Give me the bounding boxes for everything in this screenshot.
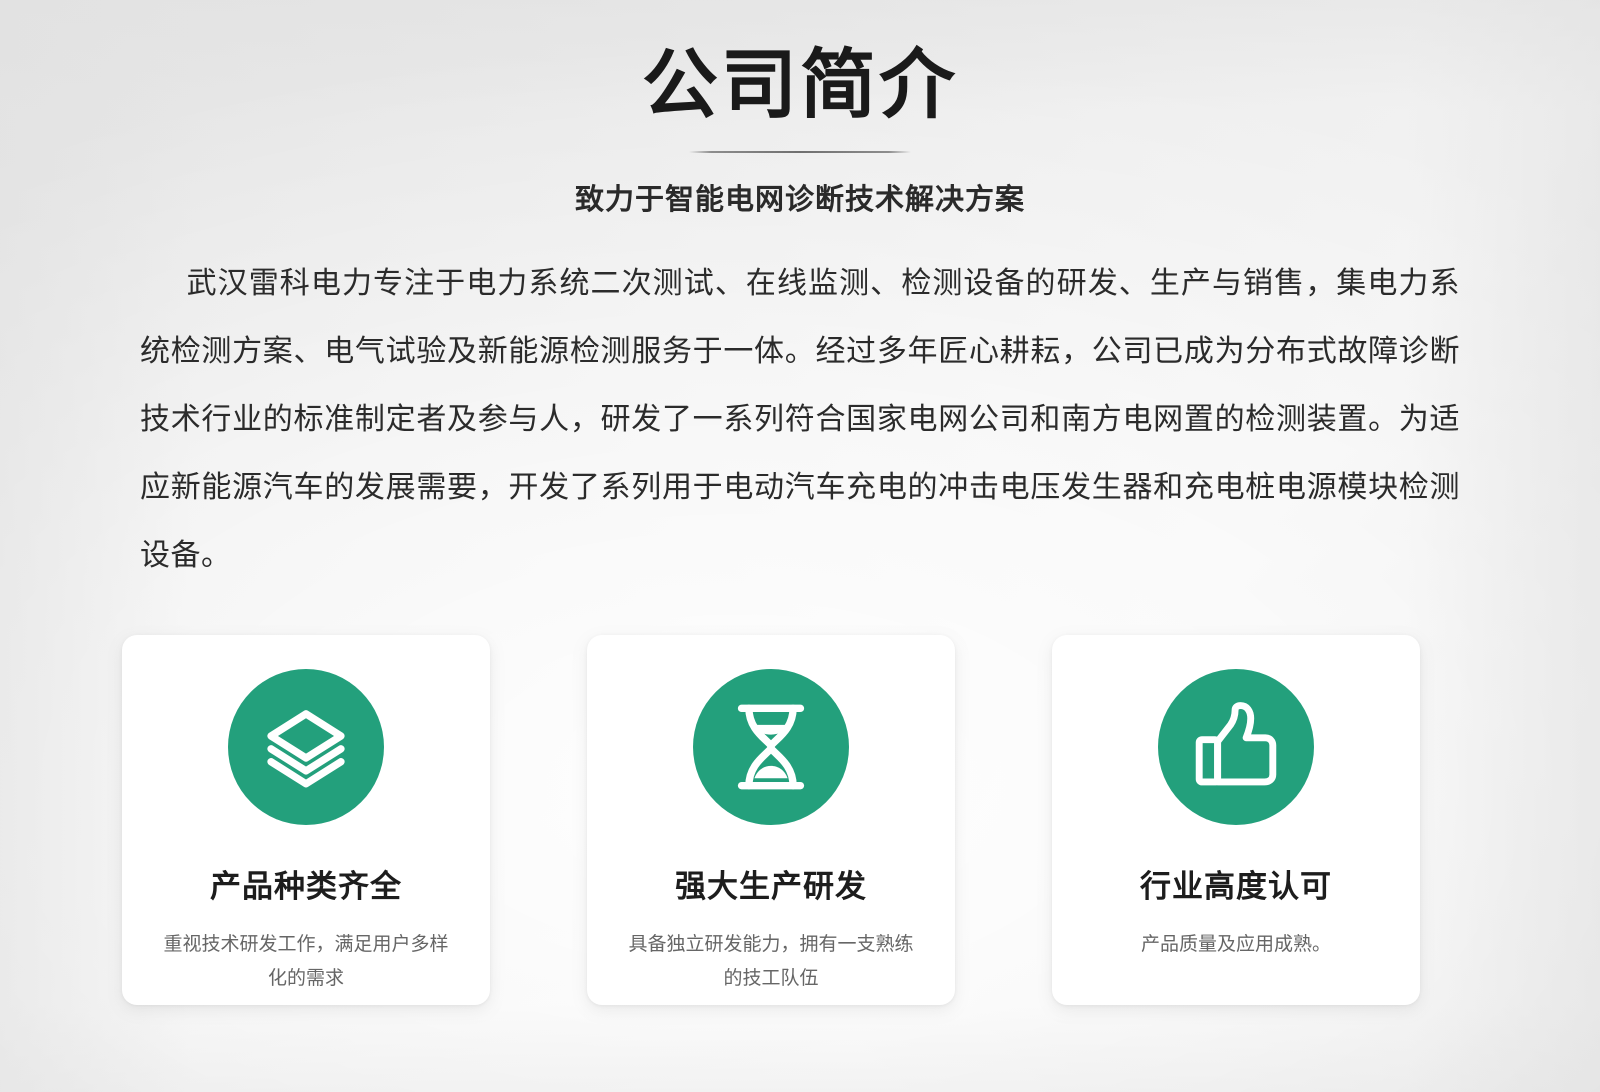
page-title: 公司简介 <box>0 42 1600 129</box>
feature-card-list: 产品种类齐全 重视技术研发工作，满足用户多样化的需求 <box>122 635 1420 1005</box>
layers-icon <box>260 701 352 793</box>
hourglass-icon <box>728 701 814 793</box>
card-title: 行业高度认可 <box>1140 861 1332 906</box>
feature-card-rnd-capability[interactable]: 强大生产研发 具备独立研发能力，拥有一支熟练的技工队伍 <box>587 635 955 1005</box>
thumbs-up-icon <box>1190 701 1282 793</box>
card-icon-circle <box>693 669 849 825</box>
intro-text: 武汉雷科电力专注于电力系统二次测试、在线监测、检测设备的研发、生产与销售，集电力… <box>140 267 1460 572</box>
page-subtitle: 致力于智能电网诊断技术解决方案 <box>0 176 1600 218</box>
card-description: 具备独立研发能力，拥有一支熟练的技工队伍 <box>621 928 921 996</box>
card-title: 强大生产研发 <box>675 861 867 906</box>
card-icon-circle <box>228 669 384 825</box>
card-description: 重视技术研发工作，满足用户多样化的需求 <box>156 928 456 996</box>
section-header: 公司简介 致力于智能电网诊断技术解决方案 <box>0 0 1600 218</box>
feature-card-product-variety[interactable]: 产品种类齐全 重视技术研发工作，满足用户多样化的需求 <box>122 635 490 1005</box>
company-profile-page: 公司简介 致力于智能电网诊断技术解决方案 武汉雷科电力专注于电力系统二次测试、在… <box>0 0 1600 1092</box>
card-description: 产品质量及应用成熟。 <box>1086 928 1386 962</box>
title-divider <box>689 151 911 153</box>
feature-card-industry-recognition[interactable]: 行业高度认可 产品质量及应用成熟。 <box>1052 635 1420 1005</box>
company-intro-paragraph: 武汉雷科电力专注于电力系统二次测试、在线监测、检测设备的研发、生产与销售，集电力… <box>140 250 1460 590</box>
card-icon-circle <box>1158 669 1314 825</box>
card-title: 产品种类齐全 <box>210 861 402 906</box>
